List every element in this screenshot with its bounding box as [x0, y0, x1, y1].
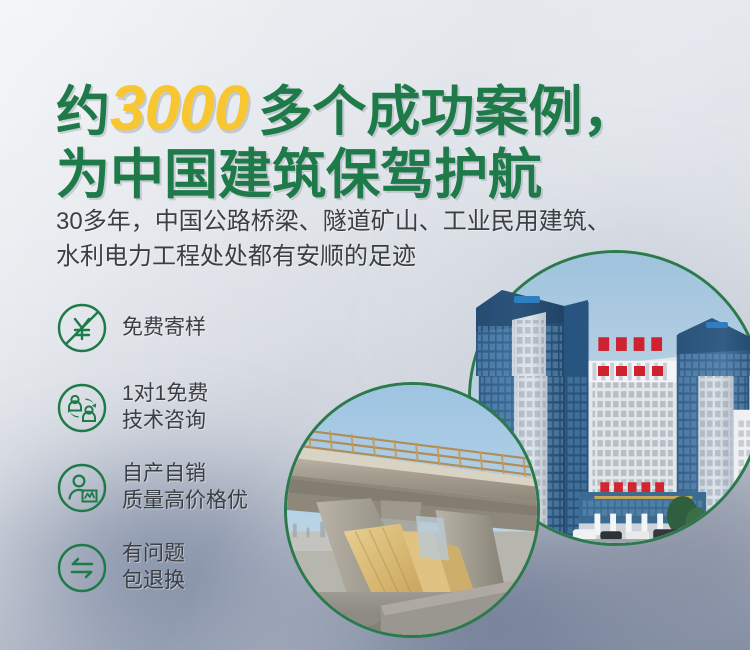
feature-item-returns[interactable]: 有问题 包退换 [56, 536, 248, 600]
feature-item-consultation[interactable]: 1对1免费 技术咨询 [56, 376, 248, 440]
no-yuan-icon [56, 302, 108, 354]
feature-line-2: 质量高价格优 [122, 489, 248, 512]
feature-text: 自产自销 质量高价格优 [122, 461, 248, 515]
subtitle-line-2: 水利电力工程处处都有安顺的足迹 [56, 240, 611, 275]
headline-line-1: 约3000多个成功案例， [56, 76, 636, 140]
subtitle-line-1: 30多年，中国公路桥梁、隧道矿山、工业民用建筑、 [56, 205, 611, 240]
headline-line-2: 为中国建筑保驾护航 [56, 148, 636, 202]
feature-line-1: 自产自销 [122, 462, 206, 485]
feature-item-quality[interactable]: 自产自销 质量高价格优 [56, 456, 248, 520]
subtitle: 30多年，中国公路桥梁、隧道矿山、工业民用建筑、 水利电力工程处处都有安顺的足迹 [56, 205, 611, 275]
feature-text: 1对1免费 技术咨询 [122, 381, 208, 435]
feature-text: 免费寄样 [122, 315, 206, 342]
headline: 约3000多个成功案例， 为中国建筑保驾护航 [56, 76, 636, 202]
promo-banner: 约3000多个成功案例， 为中国建筑保驾护航 30多年，中国公路桥梁、隧道矿山、… [0, 0, 750, 650]
feature-item-free-sample[interactable]: 免费寄样 [56, 296, 248, 360]
feature-text: 有问题 包退换 [122, 541, 185, 595]
feature-line-1: 有问题 [122, 542, 185, 565]
headline-number: 3000 [110, 72, 248, 144]
feature-line-1: 免费寄样 [122, 316, 206, 339]
exchange-arrows-icon [56, 542, 108, 594]
headline-prefix: 约 [56, 82, 110, 142]
feature-line-1: 1对1免费 [122, 382, 208, 405]
feature-line-2: 包退换 [122, 569, 185, 592]
feature-list: 免费寄样 [56, 296, 248, 600]
two-person-exchange-icon [56, 382, 108, 434]
person-chart-icon [56, 462, 108, 514]
headline-suffix: 多个成功案例， [258, 82, 636, 142]
bridge-photo [284, 382, 540, 638]
feature-line-2: 技术咨询 [122, 409, 206, 432]
